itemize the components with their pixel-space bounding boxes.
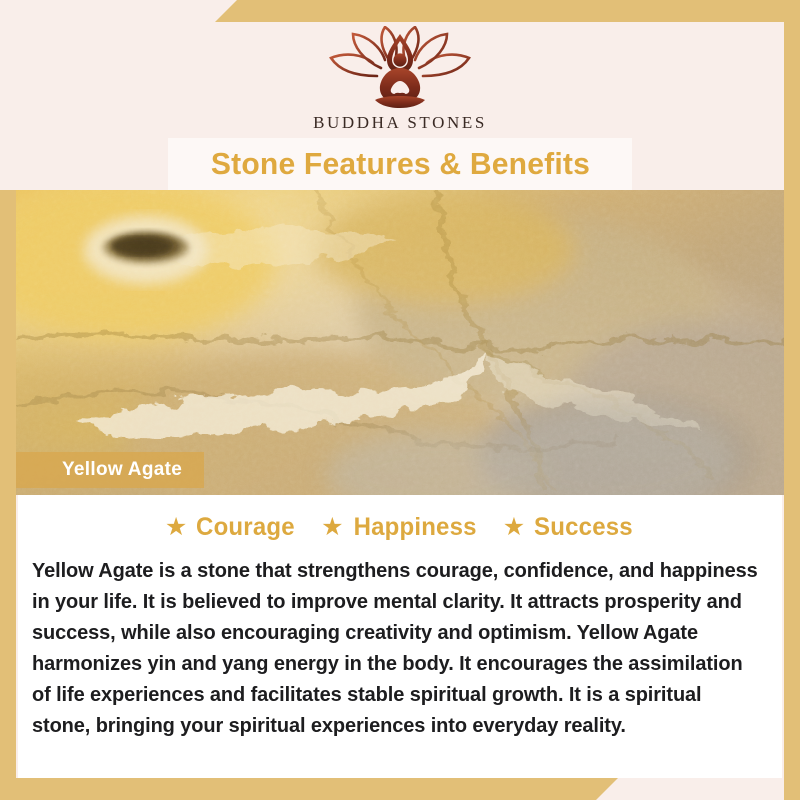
content-card: ★ Courage ★ Happiness ★ Success Yellow A… (18, 495, 782, 778)
star-icon: ★ (503, 515, 525, 540)
star-icon: ★ (165, 515, 187, 540)
benefit-label: Happiness (353, 513, 476, 542)
benefit-label: Success (534, 513, 633, 542)
gold-frame-top (215, 0, 800, 22)
gold-frame-bottom (0, 778, 618, 800)
brand-name: BUDDHA STONES (313, 113, 487, 133)
stone-description: Yellow Agate is a stone that strengthens… (32, 556, 759, 742)
infographic-page: BUDDHA STONES Stone Features & Benefits (0, 0, 800, 800)
brand-logo: BUDDHA STONES (0, 26, 800, 133)
benefit-item-happiness: ★ Happiness (321, 513, 479, 542)
benefit-label: Courage (196, 513, 295, 542)
gold-frame-left-mask (0, 0, 16, 190)
stone-photo (16, 190, 784, 495)
gold-frame-right (784, 0, 800, 800)
page-title: Stone Features & Benefits (210, 146, 589, 182)
benefit-item-success: ★ Success (503, 513, 635, 542)
stone-name-banner: Yellow Agate (16, 452, 204, 488)
page-title-box: Stone Features & Benefits (168, 138, 632, 190)
benefit-item-courage: ★ Courage (165, 513, 297, 542)
stone-name-label: Yellow Agate (62, 459, 182, 481)
lotus-meditation-logo-icon (315, 26, 485, 108)
star-icon: ★ (321, 515, 343, 540)
stone-photo-image (16, 190, 784, 495)
benefits-list: ★ Courage ★ Happiness ★ Success (18, 495, 782, 542)
